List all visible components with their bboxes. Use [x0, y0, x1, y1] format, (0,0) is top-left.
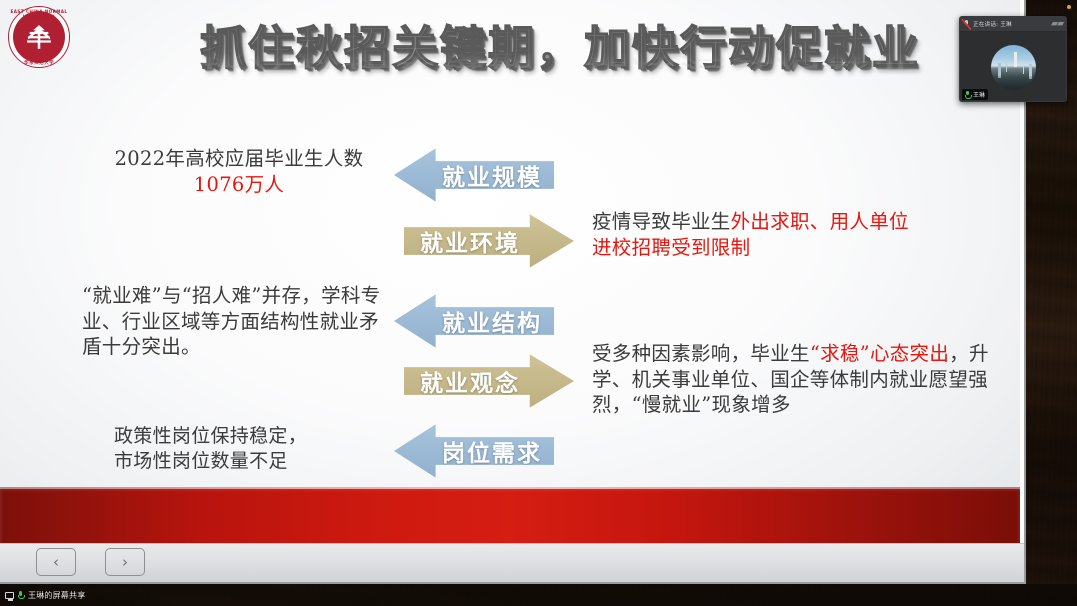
presentation-slide: EAST CHINA NORMAL UNIVERSITY 华东师范大学 抓住秋招… — [0, 0, 1020, 545]
mic-active-icon-status — [18, 591, 24, 599]
logo-text-top: EAST CHINA NORMAL UNIVERSITY — [8, 9, 70, 19]
mic-active-icon — [965, 91, 971, 99]
row-2-text-plain-1: 疫情导致毕业生 — [592, 210, 731, 233]
participant-video-panel[interactable]: 正在讲话: 王琳 ▰▰ 王琳 — [959, 16, 1067, 102]
page-title-reflection: 抓住秋招关键期，加快行动促就业 — [150, 44, 970, 76]
east-china-normal-university-logo: EAST CHINA NORMAL UNIVERSITY 华东师范大学 — [8, 6, 70, 68]
row-1-text-plain-2: 数 — [344, 147, 364, 170]
next-slide-button[interactable]: › — [105, 548, 145, 576]
chevron-left-icon: ‹ — [53, 553, 59, 571]
row-1-text-highlight: 1076万人 — [194, 173, 284, 196]
row-1-text-plain-1: 2022年高校应届毕业生人 — [115, 147, 344, 170]
video-panel-body: 王琳 — [960, 32, 1066, 102]
slide-navigation-bar: ‹ › — [0, 543, 1026, 582]
participant-name-tag: 王琳 — [962, 89, 988, 100]
arrow-employment-environment[interactable]: 就业环境 — [404, 212, 574, 270]
status-indicator-dot — [1067, 5, 1071, 9]
slide-footer-band — [0, 487, 1020, 545]
arrow-employment-scale[interactable]: 就业规模 — [394, 146, 554, 204]
previous-slide-button[interactable]: ‹ — [36, 548, 76, 576]
screen-share-status-label: 王琳的屏幕共享 — [28, 590, 85, 601]
row-4-text-highlight: “求稳”心态突出 — [810, 342, 949, 365]
arrow-label-2: 就业环境 — [420, 224, 520, 258]
logo-tree-emblem — [22, 20, 56, 54]
row-4-text: 受多种因素影响，毕业生“求稳”心态突出，升学、机关事业单位、国企等体制内就业愿望… — [592, 341, 998, 418]
mic-muted-icon — [963, 20, 970, 29]
row-4-text-plain-1: 受多种因素影响，毕业生 — [592, 342, 810, 365]
slide-title-block: 抓住秋招关键期，加快行动促就业 抓住秋招关键期，加快行动促就业 — [150, 24, 970, 141]
row-5-text-plain-1: 政策性岗位保持稳定， — [114, 424, 399, 449]
more-options-icon[interactable]: ▰▰ — [1051, 19, 1063, 29]
chevron-right-icon: › — [122, 553, 128, 571]
shared-screen-frame: EAST CHINA NORMAL UNIVERSITY 华东师范大学 抓住秋招… — [0, 0, 1026, 584]
row-3-text: “就业难”与“招人难”并存，学科专业、行业区域等方面结构性就业矛盾十分突出。 — [82, 283, 382, 360]
arrow-label-1: 就业规模 — [442, 158, 542, 192]
avatar — [991, 45, 1036, 90]
screen-share-icon — [5, 592, 14, 599]
active-speaker-label: 正在讲话: 王琳 — [973, 20, 1012, 28]
arrow-label-4: 就业观念 — [420, 364, 520, 398]
logo-text-bottom: 华东师范大学 — [8, 60, 70, 66]
row-2-text: 疫情导致毕业生外出求职、用人单位进校招聘受到限制 — [592, 209, 922, 260]
video-panel-header: 正在讲话: 王琳 ▰▰ — [960, 17, 1066, 32]
row-3-text-plain-1: “就业难”与“招人难”并存，学科专业、行业区域等方面结构性就业矛盾十分突出。 — [82, 284, 380, 358]
arrow-employment-structure[interactable]: 就业结构 — [394, 292, 554, 350]
row-5-text: 政策性岗位保持稳定， 市场性岗位数量不足 — [114, 424, 399, 474]
arrow-label-5: 岗位需求 — [442, 434, 542, 468]
participant-name: 王琳 — [973, 90, 985, 99]
arrow-employment-concept[interactable]: 就业观念 — [404, 352, 574, 410]
arrow-job-demand[interactable]: 岗位需求 — [394, 422, 554, 480]
row-1-text: 2022年高校应届毕业生人数1076万人 — [104, 146, 374, 197]
row-5-text-plain-2: 市场性岗位数量不足 — [114, 449, 399, 474]
screen-share-status-bar: 王琳的屏幕共享 — [0, 584, 1077, 606]
arrow-label-3: 就业结构 — [442, 304, 542, 338]
